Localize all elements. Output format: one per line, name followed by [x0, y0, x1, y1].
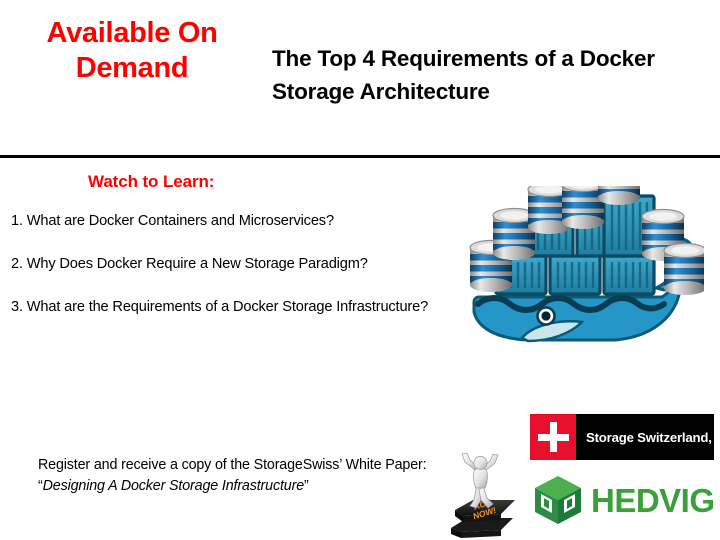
hedvig-logo: HEDVIG	[532, 474, 714, 526]
docker-whale-icon	[466, 186, 704, 356]
header-divider	[0, 155, 720, 158]
list-item: 3. What are the Requirements of a Docker…	[11, 298, 473, 317]
hedvig-cube-icon	[532, 474, 584, 526]
slide-header: Available On Demand The Top 4 Requiremen…	[0, 0, 720, 157]
storage-switzerland-logo: Storage Switzerland, LLC	[530, 414, 714, 460]
list-item: 2. Why Does Docker Require a New Storage…	[11, 255, 473, 274]
register-suffix-text: ”	[304, 478, 309, 494]
act-now-trophy-icon: ACT NOW!	[443, 452, 519, 540]
slide: Available On Demand The Top 4 Requiremen…	[0, 0, 720, 540]
hedvig-logo-text: HEDVIG	[584, 484, 715, 517]
learning-points-list: 1. What are Docker Containers and Micros…	[11, 212, 473, 317]
watch-to-learn-heading: Watch to Learn:	[88, 172, 214, 192]
list-item: 1. What are Docker Containers and Micros…	[11, 212, 473, 231]
page-title: The Top 4 Requirements of a Docker Stora…	[272, 42, 704, 108]
register-callout: Register and receive a copy of the Stora…	[38, 455, 448, 497]
storage-switzerland-logo-text: Storage Switzerland, LLC	[576, 430, 714, 445]
swiss-cross-icon	[530, 414, 576, 460]
white-paper-title: Designing A Docker Storage Infrastructur…	[43, 478, 304, 494]
available-on-demand-badge: Available On Demand	[8, 16, 256, 86]
